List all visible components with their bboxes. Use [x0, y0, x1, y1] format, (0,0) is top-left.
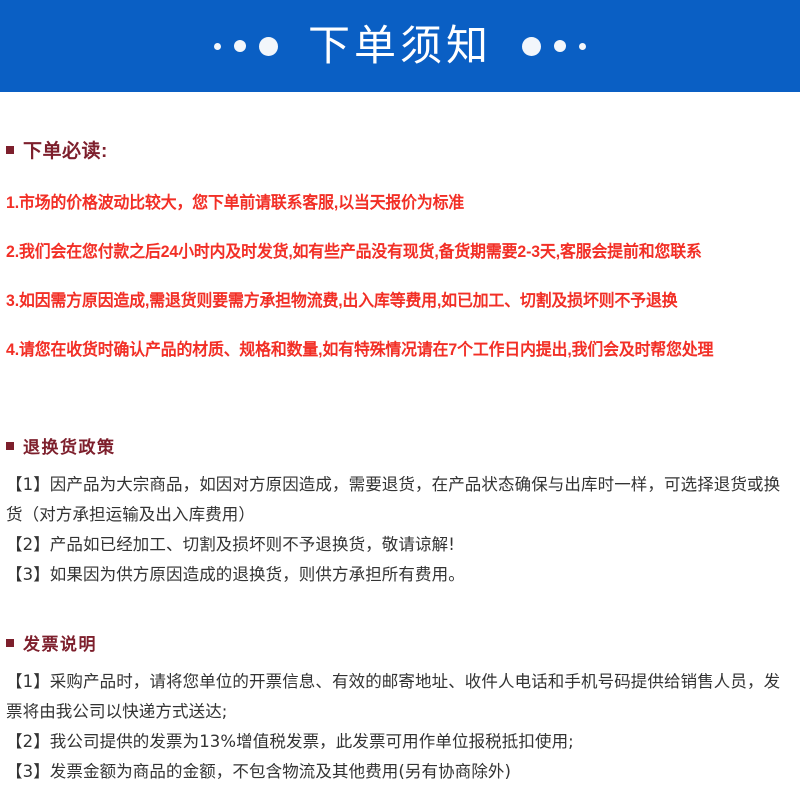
list-item: 4.请您在收货时确认产品的材质、规格和数量,如有特殊情况请在7个工作日内提出,我… [6, 336, 762, 360]
section-return-policy: 退换货政策 【1】因产品为大宗商品，如因对方原因造成，需要退货，在产品状态确保与… [6, 385, 794, 590]
section-heading-must-read: 下单必读: [6, 136, 794, 163]
must-read-list: 1.市场的价格波动比较大，您下单前请联系客服,以当天报价为标准 2.我们会在您付… [6, 189, 794, 360]
header-banner: 下单须知 [0, 0, 800, 92]
list-item: 【2】我公司提供的发票为13%增值税发票，此发票可用作单位报税抵扣使用; [6, 727, 794, 757]
list-item: 【3】发票金额为商品的金额，不包含物流及其他费用(另有协商除外) [6, 757, 794, 787]
list-item: 【1】采购产品时，请将您单位的开票信息、有效的邮寄地址、收件人电话和手机号码提供… [6, 667, 794, 727]
medium-dot-icon [554, 40, 566, 52]
list-item: 1.市场的价格波动比较大，您下单前请联系客服,以当天报价为标准 [6, 189, 762, 213]
list-item: 【1】因产品为大宗商品，如因对方原因造成，需要退货，在产品状态确保与出库时一样，… [6, 470, 794, 530]
small-dot-icon [579, 43, 586, 50]
banner-dots-left [214, 37, 278, 56]
large-dot-icon [522, 37, 541, 56]
section-invoice-notes: 发票说明 【1】采购产品时，请将您单位的开票信息、有效的邮寄地址、收件人电话和手… [6, 590, 794, 787]
section-must-read: 下单必读: 1.市场的价格波动比较大，您下单前请联系客服,以当天报价为标准 2.… [6, 92, 794, 360]
section-heading-return-policy: 退换货政策 [6, 433, 794, 458]
large-dot-icon [259, 37, 278, 56]
page-title: 下单须知 [308, 25, 492, 67]
section-heading-label: 下单必读: [23, 136, 108, 163]
section-heading-invoice-notes: 发票说明 [6, 630, 794, 655]
return-policy-list: 【1】因产品为大宗商品，如因对方原因造成，需要退货，在产品状态确保与出库时一样，… [6, 470, 794, 590]
order-notice-page: 下单须知 下单必读: 1.市场的价格波动比较大，您下单前请联系客服,以当天报价为… [0, 0, 800, 800]
section-heading-label: 发票说明 [23, 630, 97, 655]
list-item: 【3】如果因为供方原因造成的退换货，则供方承担所有费用。 [6, 560, 794, 590]
invoice-notes-list: 【1】采购产品时，请将您单位的开票信息、有效的邮寄地址、收件人电话和手机号码提供… [6, 667, 794, 787]
square-bullet-icon [6, 146, 14, 154]
small-dot-icon [214, 43, 221, 50]
banner-dots-right [522, 37, 586, 56]
notice-content: 下单必读: 1.市场的价格波动比较大，您下单前请联系客服,以当天报价为标准 2.… [0, 92, 800, 787]
medium-dot-icon [234, 40, 246, 52]
list-item: 【2】产品如已经加工、切割及损坏则不予退换货，敬请谅解! [6, 530, 794, 560]
section-heading-label: 退换货政策 [23, 433, 116, 458]
square-bullet-icon [6, 639, 14, 647]
list-item: 3.如因需方原因造成,需退货则要需方承担物流费,出入库等费用,如已加工、切割及损… [6, 287, 762, 311]
square-bullet-icon [6, 442, 14, 450]
list-item: 2.我们会在您付款之后24小时内及时发货,如有些产品没有现货,备货期需要2-3天… [6, 238, 762, 262]
banner-content: 下单须知 [0, 0, 800, 92]
